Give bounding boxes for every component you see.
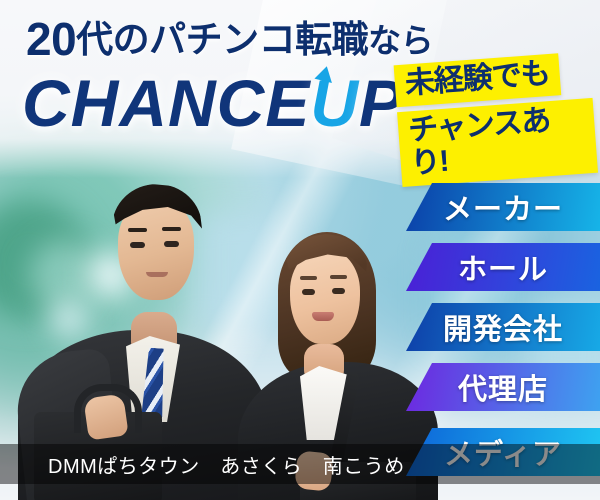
caption-text: DMMぱちタウン あさくら 南こうめ <box>48 450 405 479</box>
caption-bar: DMMぱちタウン あさくら 南こうめ <box>0 444 600 484</box>
category-label: 開発会社 <box>443 306 563 348</box>
category-label: メーカー <box>443 186 563 228</box>
category-button-maker[interactable]: メーカー <box>406 183 600 231</box>
category-button-hall[interactable]: ホール <box>406 243 600 291</box>
category-button-agency[interactable]: 代理店 <box>406 363 600 411</box>
category-button-list: メーカー ホール 開発会社 代理店 メディア <box>0 0 600 500</box>
category-label: 代理店 <box>458 366 548 408</box>
category-button-development-company[interactable]: 開発会社 <box>406 303 600 351</box>
category-label: ホール <box>458 246 548 288</box>
banner-ad[interactable]: 20代のパチンコ転職なら CHANCEUP 未経験でも チャンスあり! メーカー… <box>0 0 600 500</box>
